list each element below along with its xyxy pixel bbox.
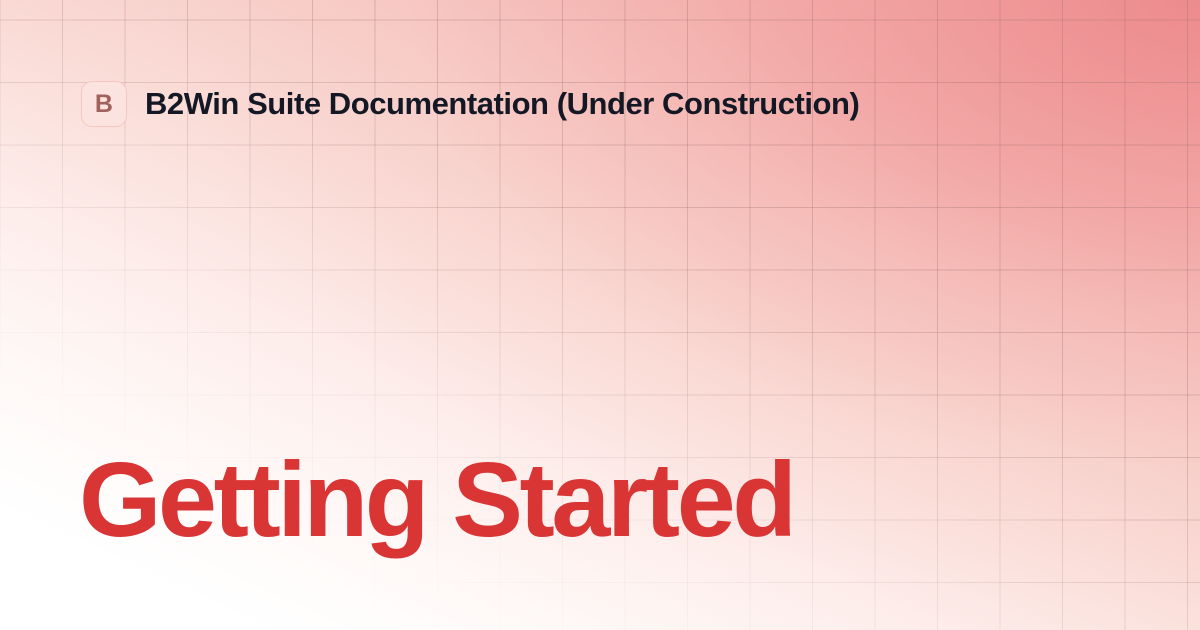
documentation-social-card: B B2Win Suite Documentation (Under Const… — [0, 0, 1200, 630]
project-identity-row: B B2Win Suite Documentation (Under Const… — [81, 81, 859, 127]
project-title: B2Win Suite Documentation (Under Constru… — [145, 86, 859, 122]
project-logo-badge: B — [81, 81, 127, 127]
card-content: B B2Win Suite Documentation (Under Const… — [0, 0, 1200, 630]
page-title: Getting Started — [79, 443, 794, 557]
